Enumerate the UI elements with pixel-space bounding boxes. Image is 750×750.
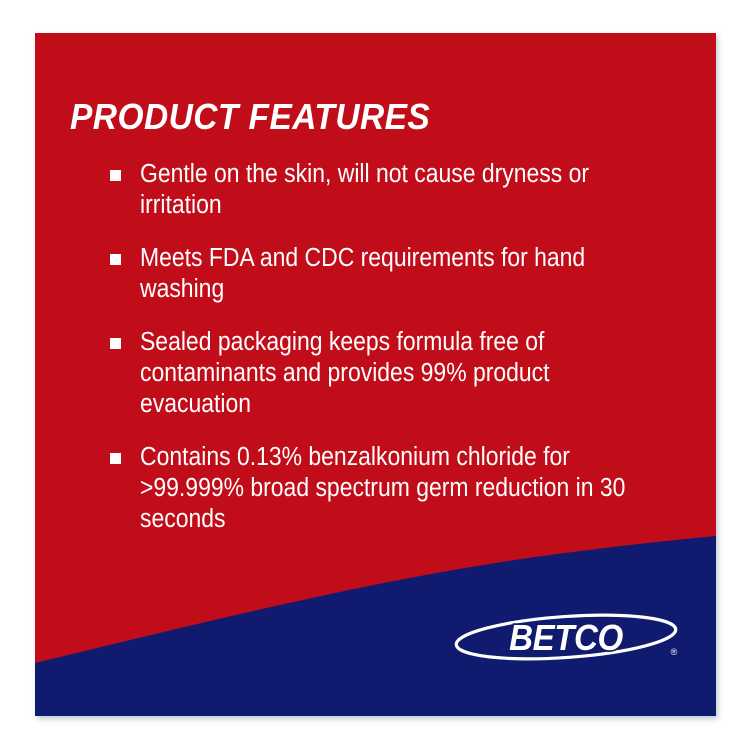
page-title: PRODUCT FEATURES bbox=[70, 99, 430, 135]
registered-trademark-icon: ® bbox=[671, 647, 678, 657]
feature-text: Meets FDA and CDC requirements for hand … bbox=[140, 243, 646, 305]
feature-text: Gentle on the skin, will not cause dryne… bbox=[140, 159, 646, 221]
feature-text: Contains 0.13% benzalkonium chloride for… bbox=[140, 442, 646, 535]
product-feature-card: PRODUCT FEATURES Gentle on the skin, wil… bbox=[0, 0, 750, 750]
square-bullet-icon bbox=[110, 338, 121, 349]
betco-logo-mark: BETCO ® bbox=[453, 611, 688, 663]
square-bullet-icon bbox=[110, 254, 121, 265]
list-item: Gentle on the skin, will not cause dryne… bbox=[107, 159, 647, 221]
list-item: Sealed packaging keeps formula free of c… bbox=[107, 327, 647, 420]
betco-wordmark: BETCO bbox=[509, 619, 623, 659]
square-bullet-icon bbox=[110, 453, 121, 464]
square-bullet-icon bbox=[110, 170, 121, 181]
feature-text: Sealed packaging keeps formula free of c… bbox=[140, 327, 646, 420]
feature-list: Gentle on the skin, will not cause dryne… bbox=[107, 159, 647, 535]
red-panel: PRODUCT FEATURES Gentle on the skin, wil… bbox=[35, 33, 716, 716]
betco-logo: BETCO ® bbox=[453, 611, 688, 663]
list-item: Meets FDA and CDC requirements for hand … bbox=[107, 243, 647, 305]
list-item: Contains 0.13% benzalkonium chloride for… bbox=[107, 442, 647, 535]
